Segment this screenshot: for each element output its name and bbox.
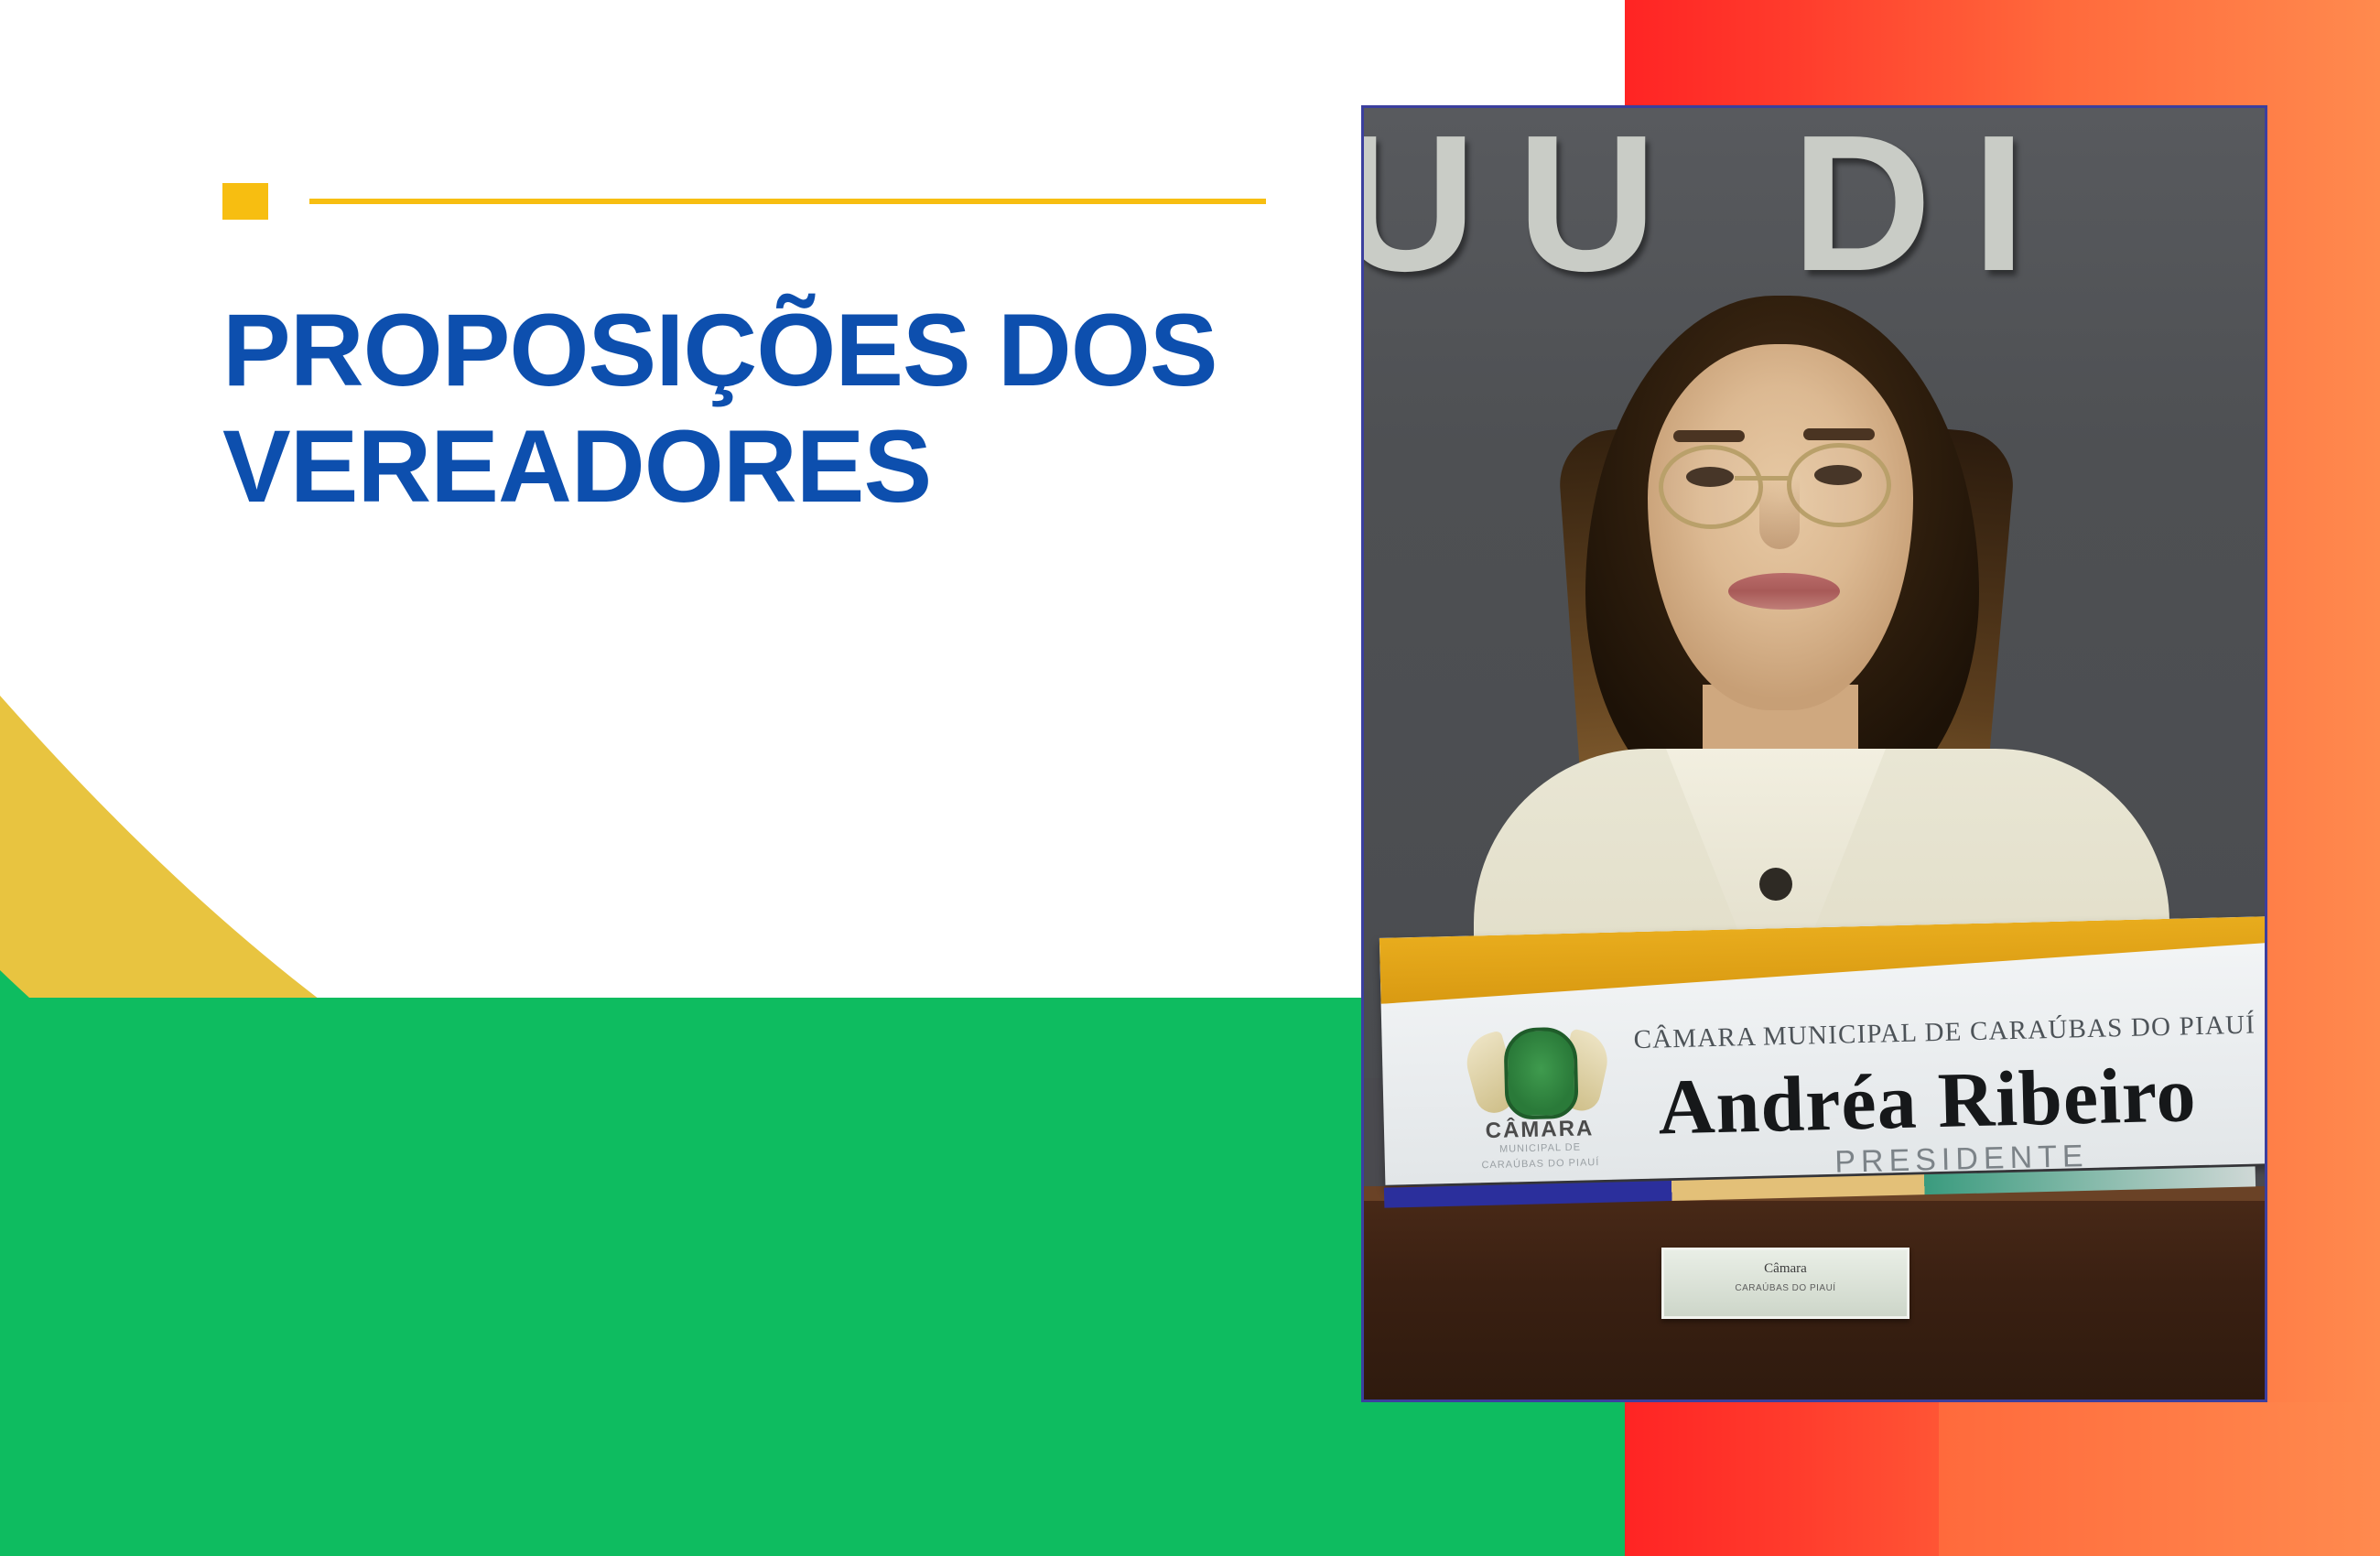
accent-square bbox=[222, 183, 268, 220]
page-title-line-1: PROPOSIÇÕES DOS bbox=[222, 293, 1330, 409]
page-title-line-2: VEREADORES bbox=[222, 409, 1330, 525]
accent-rule bbox=[309, 199, 1266, 204]
necklace-pendant bbox=[1759, 868, 1792, 901]
eyebrow-left bbox=[1673, 430, 1745, 442]
coat-of-arms-icon: CÂMARA MUNICIPAL DE CARAÚBAS DO PIAUÍ bbox=[1468, 1017, 1609, 1172]
president-photo: UU DI CÂMARA MUNICIPAL DE CAR bbox=[1361, 105, 2267, 1402]
desk-plaque-line-1: Câmara bbox=[1664, 1261, 1907, 1277]
nose bbox=[1759, 478, 1800, 549]
crest-shield bbox=[1503, 1027, 1578, 1120]
eyebrow-right bbox=[1803, 428, 1875, 440]
eyeglass-lens-right bbox=[1787, 443, 1891, 527]
crest-sublabel: MUNICIPAL DE CARAÚBAS DO PIAUÍ bbox=[1471, 1140, 1609, 1173]
wall-cutout-letters: UU DI bbox=[1361, 105, 2267, 284]
slide-canvas: PROPOSIÇÕES DOS VEREADORES UU DI bbox=[0, 0, 2380, 1556]
desk-plaque-line-2: CARAÚBAS DO PIAUÍ bbox=[1664, 1283, 1907, 1293]
eyeglass-lens-left bbox=[1659, 445, 1763, 529]
page-title: PROPOSIÇÕES DOS VEREADORES bbox=[222, 293, 1330, 524]
nameplate-person-name: Andréa Ribeiro bbox=[1657, 1046, 2263, 1152]
nameplate: CÂMARA MUNICIPAL DE CARAÚBAS DO PIAUÍ CÂ… bbox=[1379, 916, 2267, 1185]
lips bbox=[1728, 573, 1840, 610]
desk-plaque: Câmara CARAÚBAS DO PIAUÍ bbox=[1661, 1248, 1909, 1319]
orange-bottom-strip bbox=[1939, 1402, 2380, 1556]
